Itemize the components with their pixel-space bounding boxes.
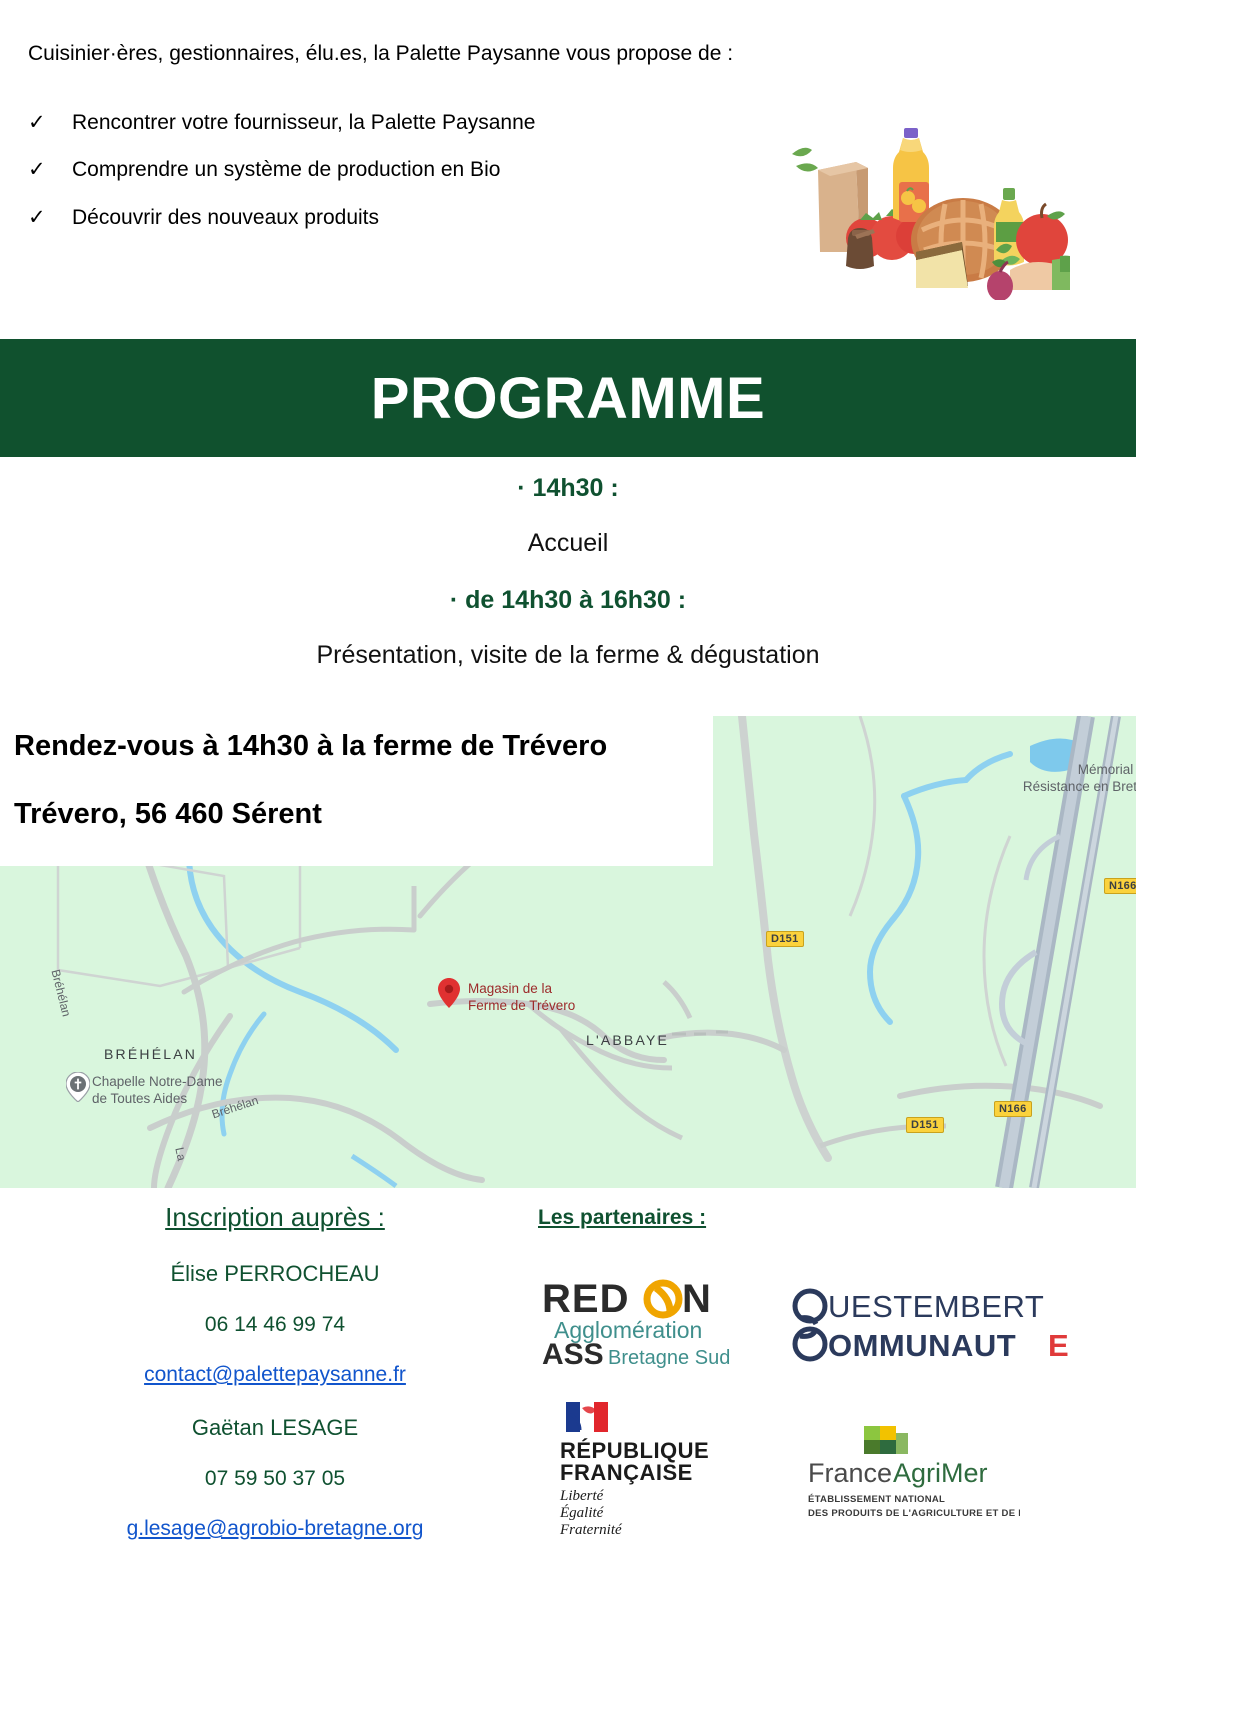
schedule-time-2: · de 14h30 à 16h30 : [0,586,1136,615]
svg-text:FRANÇAISE: FRANÇAISE [560,1460,693,1485]
footer-section: Inscription auprès : Élise PERROCHEAU 06… [0,1188,1136,1713]
food-illustration [700,110,1070,300]
list-item-label: Rencontrer votre fournisseur, la Palette… [72,110,535,136]
road-shield-n166-bottom: N166 [994,1101,1032,1117]
contact-2-email-link[interactable]: g.lesage@agrobio-bretagne.org [60,1517,490,1541]
map-place-brehelan: BRÉHÉLAN [104,1046,197,1062]
svg-text:ASS: ASS [542,1338,604,1371]
map-poi-memorial: Mémorial de Résistance en Bretag [1012,762,1136,796]
svg-text:AgriMer: AgriMer [893,1458,988,1488]
svg-text:OMMUNAUT: OMMUNAUT [828,1328,1016,1363]
checkmark-icon: ✓ [28,110,72,136]
contact-2-phone: 07 59 50 37 05 [60,1467,490,1491]
svg-text:ÉTABLISSEMENT NATIONAL: ÉTABLISSEMENT NATIONAL [808,1494,945,1505]
logo-republique-francaise: RÉPUBLIQUE FRANÇAISE Liberté Égalité Fra… [558,1400,733,1535]
list-item-label: Comprendre un système de production en B… [72,157,500,183]
list-item: ✓ Rencontrer votre fournisseur, la Palet… [28,110,788,136]
svg-text:France: France [808,1458,892,1488]
contact-1-name: Élise PERROCHEAU [60,1261,490,1287]
contact-1-phone: 06 14 46 99 74 [60,1313,490,1337]
list-item: ✓ Comprendre un système de production en… [28,157,788,183]
road-shield-d151-bottom: D151 [906,1117,944,1133]
svg-text:Égalité: Égalité [559,1504,605,1521]
checkmark-icon: ✓ [28,205,72,231]
programme-schedule: · 14h30 : Accueil · de 14h30 à 16h30 : P… [0,460,1136,670]
list-item: ✓ Découvrir des nouveaux produits [28,205,788,231]
map-poi-memorial-line1: Mémorial de [1012,762,1136,779]
logo-questembert-communaute: UESTEMBERT OMMUNAUT E [790,1284,1080,1364]
map-poi-magasin-line1: Magasin de la [468,981,588,998]
map-place-labbaye: L'ABBAYE [586,1032,669,1048]
map-poi-magasin-line2: Ferme de Trévero [468,998,588,1015]
contact-2-name: Gaëtan LESAGE [60,1415,490,1441]
schedule-desc-1: Accueil [0,529,1136,558]
logo-redon-agglomeration: RED N Agglomération ASS Bretagne Sud [540,1272,750,1377]
programme-banner: PROGRAMME [0,339,1136,457]
partners-heading: Les partenaires : [538,1206,706,1230]
schedule-time-1: · 14h30 : [0,474,1136,503]
page-title: PROGRAMME [0,339,1136,457]
intro-bullet-list: ✓ Rencontrer votre fournisseur, la Palet… [28,110,788,252]
svg-text:Fraternité: Fraternité [559,1522,623,1535]
svg-text:Liberté: Liberté [559,1488,605,1504]
map-road-label-la: La [172,1146,188,1162]
rendezvous-line1: Rendez-vous à 14h30 à la ferme de Tréver… [14,730,607,763]
logo-franceagrimer: France AgriMer ÉTABLISSEMENT NATIONAL DE… [800,1424,1020,1534]
map-marker-icon[interactable] [438,978,460,1008]
rendezvous-line2: Trévero, 56 460 Sérent [14,798,322,831]
map-poi-chapelle-line1: Chapelle Notre-Dame [92,1074,272,1091]
inscription-heading: Inscription auprès : [60,1202,490,1233]
svg-text:N: N [682,1277,711,1321]
inscription-block: Inscription auprès : Élise PERROCHEAU 06… [60,1202,490,1541]
svg-text:Bretagne Sud: Bretagne Sud [608,1347,730,1369]
intro-lead-text: Cuisinier·ères, gestionnaires, élu.es, l… [28,40,828,67]
svg-text:E: E [1048,1328,1069,1363]
map-poi-magasin: Magasin de la Ferme de Trévero [468,981,588,1015]
svg-text:RED: RED [542,1277,629,1321]
rendezvous-box: Rendez-vous à 14h30 à la ferme de Tréver… [0,716,713,866]
map-poi-memorial-line2: Résistance en Bretag [1012,779,1136,796]
road-shield-d151-top: D151 [766,931,804,947]
contact-1-email-link[interactable]: contact@palettepaysanne.fr [60,1363,490,1387]
list-item-label: Découvrir des nouveaux produits [72,205,379,231]
svg-text:UESTEMBERT: UESTEMBERT [828,1289,1044,1324]
chapel-icon[interactable] [66,1072,90,1102]
svg-text:DES PRODUITS DE L'AGRICULTURE: DES PRODUITS DE L'AGRICULTURE ET DE LA M… [808,1508,1020,1519]
flyer-page: Cuisinier·ères, gestionnaires, élu.es, l… [0,0,1240,1713]
schedule-desc-2: Présentation, visite de la ferme & dégus… [0,641,1136,670]
road-shield-n166-top: N166 [1104,878,1136,894]
checkmark-icon: ✓ [28,157,72,183]
